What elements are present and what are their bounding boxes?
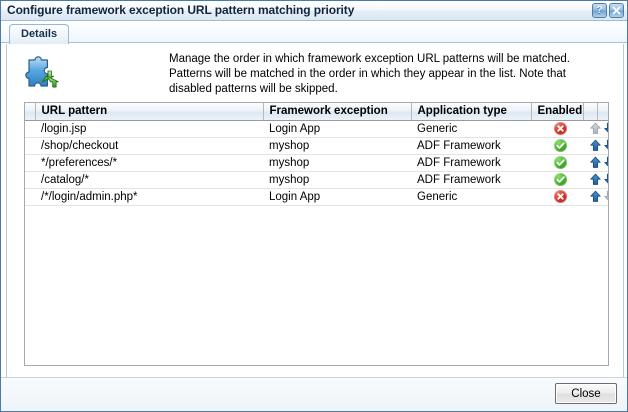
intro-line-2: Patterns will be matched in the order in… — [169, 67, 613, 82]
move-up-icon — [589, 122, 602, 135]
intro-line-3: disabled patterns will be skipped. — [169, 82, 613, 97]
cell-move-up[interactable] — [583, 137, 597, 154]
move-up-icon[interactable] — [589, 173, 602, 186]
patterns-table: URL pattern Framework exception Applicat… — [24, 102, 609, 366]
column-header-move-up[interactable] — [583, 103, 597, 120]
move-down-icon[interactable] — [603, 122, 609, 135]
close-glyph — [610, 4, 623, 17]
puzzle-piece-reorder-icon — [15, 52, 63, 98]
column-header-application-type[interactable]: Application type — [411, 103, 531, 120]
table-row[interactable]: /*/login/admin.php*Login AppGeneric — [25, 188, 609, 205]
cell-framework-exception: myshop — [263, 154, 411, 171]
cell-framework-exception: myshop — [263, 137, 411, 154]
move-down-icon — [603, 190, 609, 203]
column-header-move-down[interactable] — [597, 103, 609, 120]
cell-enabled[interactable] — [531, 154, 583, 171]
cell-gutter[interactable] — [25, 137, 35, 154]
content-panel: Manage the order in which framework exce… — [6, 44, 624, 378]
cell-framework-exception: myshop — [263, 171, 411, 188]
cell-gutter[interactable] — [25, 120, 35, 137]
column-header-url-pattern[interactable]: URL pattern — [35, 103, 263, 120]
column-header-framework-exception[interactable]: Framework exception — [263, 103, 411, 120]
cell-application-type: Generic — [411, 188, 531, 205]
help-icon[interactable]: ? — [592, 3, 607, 18]
status-enabled-icon[interactable] — [554, 139, 567, 152]
table-body: /login.jspLogin AppGeneric/shop/checkout… — [25, 120, 609, 205]
status-disabled-icon[interactable] — [554, 122, 567, 135]
intro-description: Manage the order in which framework exce… — [169, 52, 613, 97]
intro-line-1: Manage the order in which framework exce… — [169, 52, 613, 67]
cell-application-type: ADF Framework — [411, 171, 531, 188]
cell-enabled[interactable] — [531, 137, 583, 154]
cell-framework-exception: Login App — [263, 120, 411, 137]
status-enabled-icon[interactable] — [554, 156, 567, 169]
table-row[interactable]: /login.jspLogin AppGeneric — [25, 120, 609, 137]
table-header-row: URL pattern Framework exception Applicat… — [25, 103, 609, 120]
table-row[interactable]: /shop/checkoutmyshopADF Framework — [25, 137, 609, 154]
cell-url-pattern: /shop/checkout — [35, 137, 263, 154]
dialog-footer: Close — [1, 377, 627, 411]
cell-enabled[interactable] — [531, 188, 583, 205]
cell-move-up[interactable] — [583, 188, 597, 205]
tab-details[interactable]: Details — [9, 24, 69, 44]
close-button[interactable]: Close — [555, 383, 617, 404]
close-icon[interactable] — [609, 3, 624, 18]
move-down-icon[interactable] — [603, 173, 609, 186]
cell-application-type: ADF Framework — [411, 137, 531, 154]
cell-application-type: Generic — [411, 120, 531, 137]
title-bar: Configure framework exception URL patter… — [1, 1, 627, 21]
cell-application-type: ADF Framework — [411, 154, 531, 171]
status-enabled-icon[interactable] — [554, 173, 567, 186]
move-down-icon[interactable] — [603, 156, 609, 169]
cell-enabled[interactable] — [531, 120, 583, 137]
column-header-gutter[interactable] — [25, 103, 35, 120]
tab-strip: Details — [1, 21, 627, 43]
table-row[interactable]: /catalog/*myshopADF Framework — [25, 171, 609, 188]
cell-url-pattern: /login.jsp — [35, 120, 263, 137]
move-up-icon[interactable] — [589, 156, 602, 169]
cell-url-pattern: */preferences/* — [35, 154, 263, 171]
cell-gutter[interactable] — [25, 171, 35, 188]
dialog-window: Configure framework exception URL patter… — [0, 0, 628, 412]
title-bar-buttons: ? — [592, 3, 624, 18]
column-header-enabled[interactable]: Enabled — [531, 103, 583, 120]
page-title: Configure framework exception URL patter… — [7, 1, 592, 20]
table-row[interactable]: */preferences/*myshopADF Framework — [25, 154, 609, 171]
move-up-icon[interactable] — [589, 190, 602, 203]
cell-move-up[interactable] — [583, 171, 597, 188]
cell-gutter[interactable] — [25, 188, 35, 205]
move-up-icon[interactable] — [589, 139, 602, 152]
cell-framework-exception: Login App — [263, 188, 411, 205]
cell-move-up[interactable] — [583, 154, 597, 171]
status-disabled-icon[interactable] — [554, 190, 567, 203]
intro-block: Manage the order in which framework exce… — [7, 44, 623, 98]
cell-move-up — [583, 120, 597, 137]
cell-enabled[interactable] — [531, 171, 583, 188]
patterns-grid: URL pattern Framework exception Applicat… — [25, 103, 609, 206]
cell-url-pattern: /catalog/* — [35, 171, 263, 188]
cell-url-pattern: /*/login/admin.php* — [35, 188, 263, 205]
move-down-icon[interactable] — [603, 139, 609, 152]
cell-gutter[interactable] — [25, 154, 35, 171]
